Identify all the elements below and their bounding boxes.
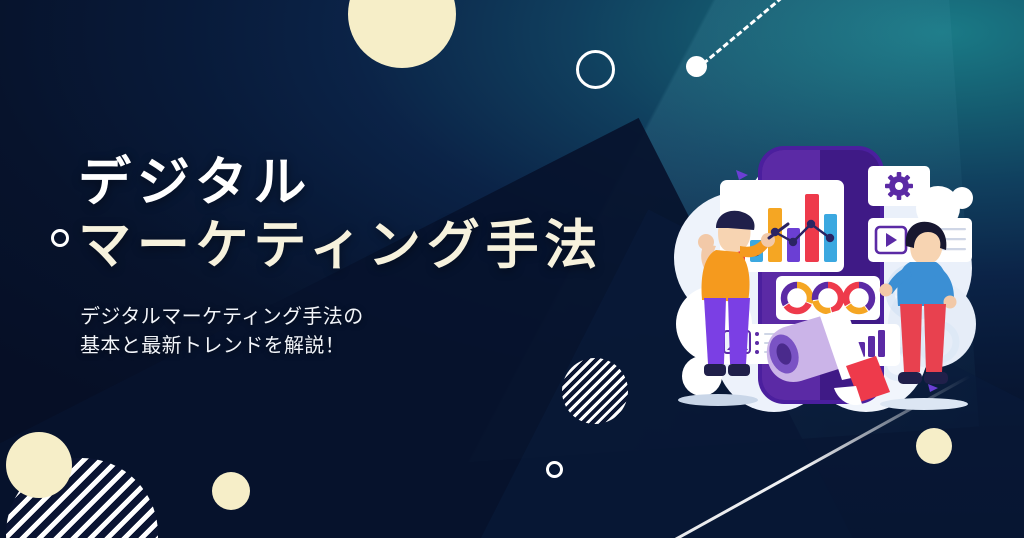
cream-circle-bottom-mid — [212, 472, 250, 510]
gear-card — [868, 166, 930, 206]
donut-chart-card — [776, 276, 880, 320]
white-dot-streak — [686, 56, 707, 77]
page-title-line1: デジタル — [78, 152, 638, 215]
banner-canvas: デジタル マーケティング手法 デジタルマーケティング手法の 基本と最新トレンドを… — [0, 0, 1024, 538]
page-subtitle-line2: 基本と最新トレンドを解説！ — [80, 332, 638, 361]
cream-circle-bottom-left — [6, 432, 72, 498]
page-subtitle-line1: デジタルマーケティング手法の — [80, 303, 638, 332]
cream-circle-top — [348, 0, 456, 68]
ring-small-bottom — [546, 461, 563, 478]
gear-icon — [885, 172, 913, 200]
ring-top-center — [576, 50, 615, 89]
page-title-line2: マーケティング手法 — [78, 215, 638, 278]
cream-circle-bottom-right — [916, 428, 952, 464]
dashed-streak-line — [702, 0, 792, 67]
striped-circle-center — [562, 358, 628, 424]
page-subtitle: デジタルマーケティング手法の 基本と最新トレンドを解説！ — [80, 303, 638, 361]
headline-block: デジタル マーケティング手法 デジタルマーケティング手法の 基本と最新トレンドを… — [78, 152, 638, 361]
ring-small-left — [51, 229, 69, 247]
digital-marketing-illustration — [670, 128, 980, 428]
